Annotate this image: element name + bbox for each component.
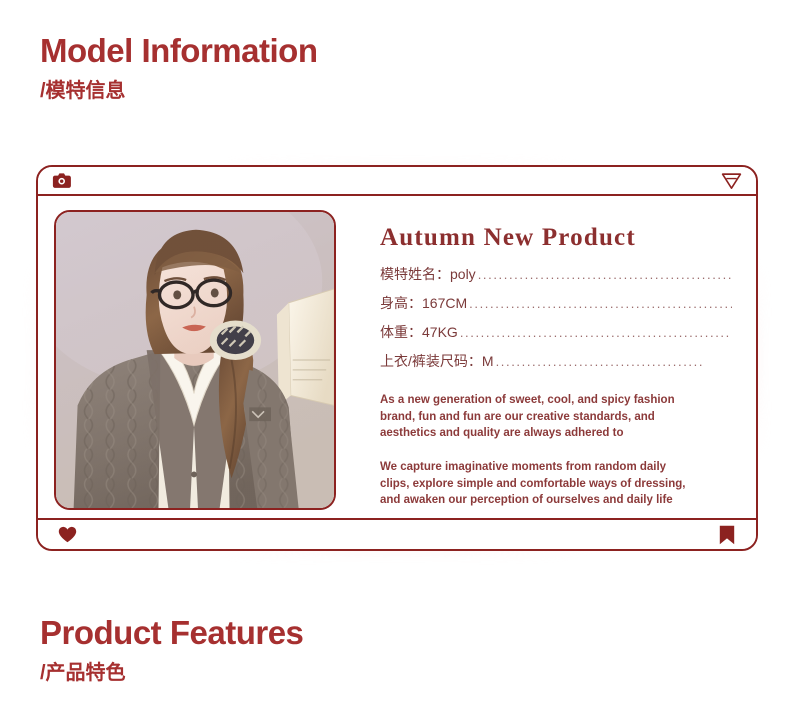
spec-label-height: 身高：167CM (380, 293, 467, 313)
card-footer (38, 518, 756, 549)
product-features-title-en: Product Features (40, 615, 303, 652)
model-info-card: Autumn New Product 模特姓名：poly ...........… (36, 165, 758, 551)
model-info-column: Autumn New Product 模特姓名：poly ...........… (336, 210, 740, 508)
spec-label-size: 上衣/裤装尺码：M (380, 351, 494, 371)
brand-paragraph-1: As a new generation of sweet, cool, and … (380, 392, 692, 442)
send-icon[interactable] (721, 171, 742, 190)
spec-leader: ........................................… (478, 267, 732, 282)
spec-leader: ........................................ (496, 354, 732, 369)
spec-row: 身高：167CM ...............................… (380, 293, 732, 322)
camera-icon[interactable] (52, 172, 71, 189)
model-information-heading: Model Information /模特信息 (40, 33, 317, 102)
brand-paragraph-2: We capture imaginative moments from rand… (380, 459, 692, 509)
product-title: Autumn New Product (380, 224, 732, 252)
heart-icon[interactable] (58, 526, 77, 543)
spec-row: 上衣/裤装尺码：M ..............................… (380, 351, 732, 380)
model-photo-frame (54, 210, 336, 510)
spec-label-weight: 体重：47KG (380, 322, 458, 342)
card-body: Autumn New Product 模特姓名：poly ...........… (38, 196, 756, 518)
model-photo (56, 212, 334, 508)
card-frame: Autumn New Product 模特姓名：poly ...........… (36, 165, 758, 551)
spec-row: 模特姓名：poly ..............................… (380, 264, 732, 293)
product-features-title-cn: /产品特色 (40, 662, 303, 684)
card-header (38, 167, 756, 196)
spec-leader: ........................................… (469, 296, 732, 311)
spec-leader: ........................................… (460, 325, 732, 340)
spec-row: 体重：47KG ................................… (380, 322, 732, 351)
model-information-title-en: Model Information (40, 33, 317, 70)
product-features-heading: Product Features /产品特色 (40, 615, 303, 684)
spec-label-model-name: 模特姓名：poly (380, 264, 476, 284)
bookmark-icon[interactable] (718, 525, 736, 545)
model-information-title-cn: /模特信息 (40, 80, 317, 102)
